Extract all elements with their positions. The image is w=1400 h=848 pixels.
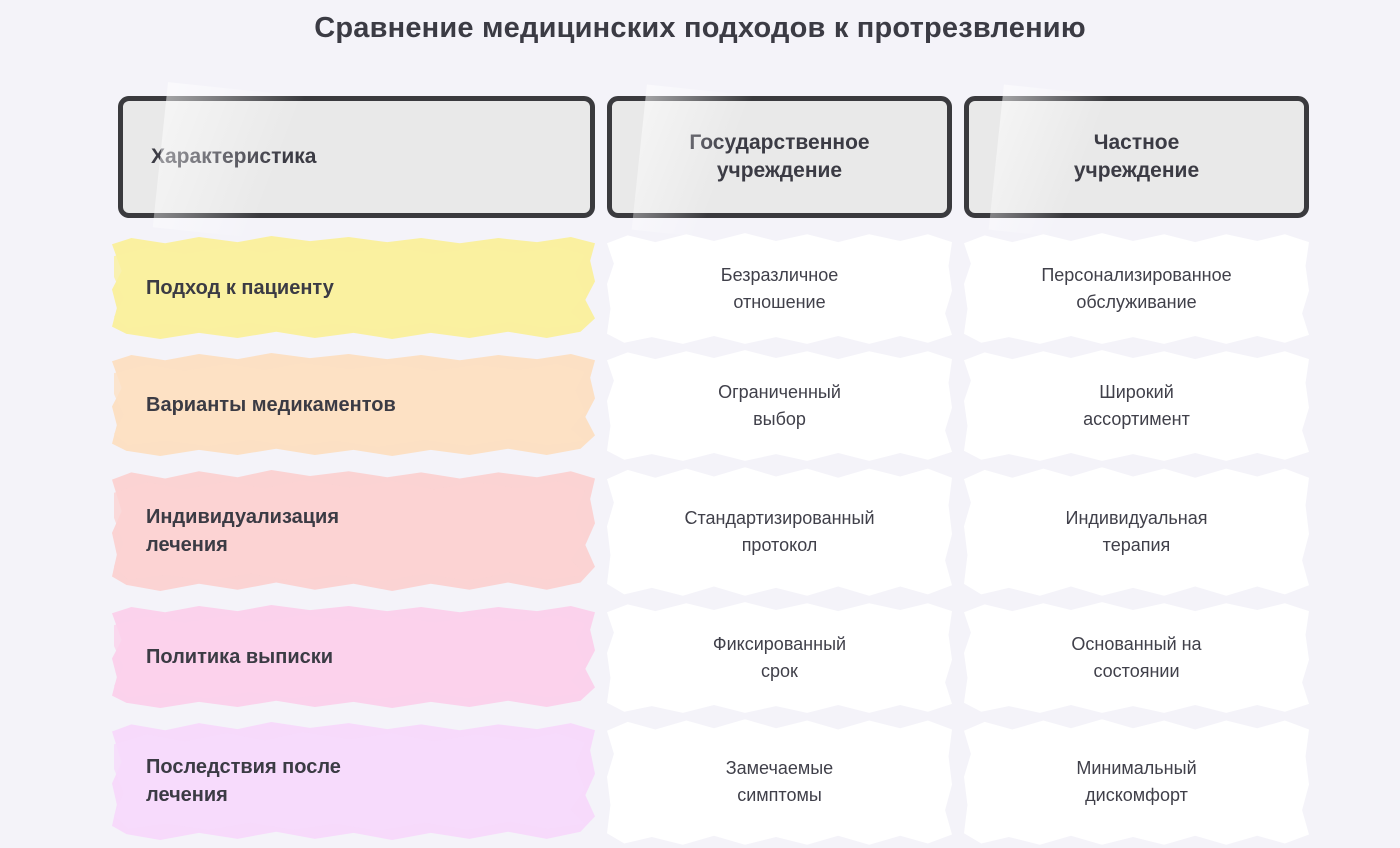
column-gap [595, 230, 607, 347]
column-gap [952, 230, 964, 347]
cell-line1: Персонализированное [1041, 262, 1231, 289]
feature-label: Политика выписки [146, 599, 555, 716]
cell-value-public: Стандартизированный протокол [607, 464, 952, 599]
header-cell-public: Государственное учреждение [607, 96, 952, 218]
data-cell-private: Индивидуальная терапия [964, 464, 1309, 599]
column-gap [952, 347, 964, 464]
data-cell-public: Фиксированный срок [607, 599, 952, 716]
data-cell-private: Основанный на состоянии [964, 599, 1309, 716]
feature-cell: Последствия после лечения [118, 716, 595, 848]
data-cell-public: Безразличное отношение [607, 230, 952, 347]
header-label-private-line1: Частное [1074, 129, 1199, 157]
column-gap [952, 464, 964, 599]
cell-value-private: Минимальный дискомфорт [964, 716, 1309, 848]
feature-cell: Индивидуализация лечения [118, 464, 595, 599]
cell-line2: протокол [685, 532, 875, 559]
cell-line1: Минимальный [1076, 755, 1196, 782]
column-gap [595, 599, 607, 716]
cell-line2: обслуживание [1041, 289, 1231, 316]
column-gap [952, 599, 964, 716]
feature-label: Индивидуализация лечения [146, 464, 555, 599]
cell-line1: Основанный на [1071, 631, 1201, 658]
header-cell-private: Частное учреждение [964, 96, 1309, 218]
header-label-public-line2: учреждение [689, 157, 869, 185]
data-cell-public: Замечаемые симптомы [607, 716, 952, 848]
header-label-feature: Характеристика [151, 143, 316, 171]
table-row: Индивидуализация лечения Стандартизирова… [118, 464, 1284, 599]
header-label-public-line1: Государственное [689, 129, 869, 157]
cell-line2: симптомы [726, 782, 833, 809]
feature-label-line1: Варианты медикаментов [146, 392, 396, 420]
feature-label: Последствия после лечения [146, 716, 555, 848]
comparison-table: Характеристика Государственное учреждени… [118, 96, 1284, 848]
data-cell-private: Персонализированное обслуживание [964, 230, 1309, 347]
cell-line2: срок [713, 658, 846, 685]
column-gap [595, 96, 607, 218]
cell-value-private: Персонализированное обслуживание [964, 230, 1309, 347]
data-cell-private: Широкий ассортимент [964, 347, 1309, 464]
cell-value-private: Индивидуальная терапия [964, 464, 1309, 599]
cell-value-private: Основанный на состоянии [964, 599, 1309, 716]
feature-label-line2: лечения [146, 532, 339, 560]
table-header-row: Характеристика Государственное учреждени… [118, 96, 1284, 218]
feature-label-line2: лечения [146, 782, 341, 810]
feature-label-line1: Политика выписки [146, 644, 333, 672]
cell-value-public: Фиксированный срок [607, 599, 952, 716]
cell-line1: Стандартизированный [685, 505, 875, 532]
cell-line2: терапия [1066, 532, 1208, 559]
feature-label-line1: Подход к пациенту [146, 275, 334, 303]
page-title: Сравнение медицинских подходов к протрез… [0, 12, 1400, 45]
feature-cell: Политика выписки [118, 599, 595, 716]
cell-line2: отношение [721, 289, 838, 316]
column-gap [595, 347, 607, 464]
cell-line1: Индивидуальная [1066, 505, 1208, 532]
column-gap [595, 464, 607, 599]
feature-cell: Варианты медикаментов [118, 347, 595, 464]
header-label-private-line2: учреждение [1074, 157, 1199, 185]
data-cell-public: Ограниченный выбор [607, 347, 952, 464]
table-row: Варианты медикаментов Ограниченный выбор… [118, 347, 1284, 464]
header-cell-feature: Характеристика [118, 96, 595, 218]
table-row: Подход к пациенту Безразличное отношение… [118, 230, 1284, 347]
cell-value-public: Ограниченный выбор [607, 347, 952, 464]
cell-line1: Ограниченный [718, 379, 841, 406]
data-cell-private: Минимальный дискомфорт [964, 716, 1309, 848]
cell-line2: состоянии [1071, 658, 1201, 685]
table-row: Последствия после лечения Замечаемые сим… [118, 716, 1284, 848]
cell-value-public: Замечаемые симптомы [607, 716, 952, 848]
cell-line1: Безразличное [721, 262, 838, 289]
cell-value-public: Безразличное отношение [607, 230, 952, 347]
table-row: Политика выписки Фиксированный срок Осно… [118, 599, 1284, 716]
cell-line1: Замечаемые [726, 755, 833, 782]
column-gap [952, 716, 964, 848]
column-gap [952, 96, 964, 218]
cell-line1: Широкий [1083, 379, 1190, 406]
cell-value-private: Широкий ассортимент [964, 347, 1309, 464]
feature-label: Варианты медикаментов [146, 347, 555, 464]
column-gap [595, 716, 607, 848]
data-cell-public: Стандартизированный протокол [607, 464, 952, 599]
cell-line2: ассортимент [1083, 406, 1190, 433]
feature-label: Подход к пациенту [146, 230, 555, 347]
cell-line2: дискомфорт [1076, 782, 1196, 809]
cell-line2: выбор [718, 406, 841, 433]
cell-line1: Фиксированный [713, 631, 846, 658]
feature-cell: Подход к пациенту [118, 230, 595, 347]
feature-label-line1: Последствия после [146, 754, 341, 782]
feature-label-line1: Индивидуализация [146, 504, 339, 532]
